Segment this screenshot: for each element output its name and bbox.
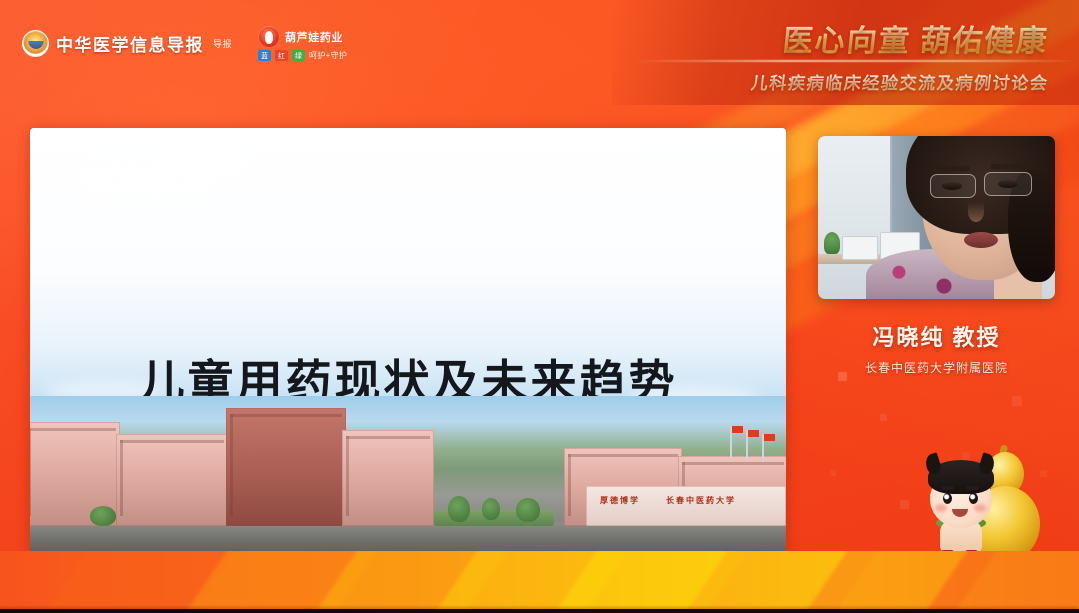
- circular-seal-icon: [22, 30, 49, 57]
- webinar-stage: 中华医学信息导报 导报 葫芦娃药业 蓝 红 绿 呵护+守护 医心向童 葫佑健康 …: [0, 0, 1079, 613]
- plant: [824, 232, 840, 254]
- brand-chip: 红: [275, 50, 288, 61]
- flag-pole: [730, 426, 732, 458]
- presentation-slide[interactable]: 儿童用药现状及未来趋势 长春中医药大学附属医院 儿童诊疗中心 长春中医药大学附属…: [30, 128, 786, 556]
- event-banner: 医心向童 葫佑健康 儿科疾病临床经验交流及病例讨论会: [751, 16, 1049, 94]
- bottom-decorative-band: [0, 551, 1079, 613]
- building: [226, 408, 346, 526]
- tree: [90, 506, 116, 526]
- sparkle-square: [1012, 396, 1022, 406]
- sponsor-cma-logo: 中华医学信息导报 导报: [22, 30, 232, 57]
- building: [342, 430, 434, 526]
- campus-photo: 厚德博学 长春中医药大学: [30, 396, 786, 556]
- mascot-eye: [943, 493, 952, 504]
- tree: [448, 496, 470, 522]
- mascot-brow: [941, 486, 954, 490]
- flag-pole: [746, 430, 748, 460]
- participant-mouth: [964, 232, 998, 248]
- tree: [482, 498, 500, 520]
- mascot-cheek: [974, 504, 986, 512]
- participant-brow: [990, 164, 1026, 169]
- participant-nose: [968, 202, 984, 222]
- mascot-eye: [969, 493, 978, 504]
- huluwa-wordmark: 葫芦娃药业: [285, 29, 343, 45]
- gate-caption-left: 厚德博学: [600, 495, 640, 506]
- participant-eye: [998, 180, 1018, 188]
- speaker-name: 冯晓纯 教授: [818, 320, 1055, 352]
- sparkle-square: [830, 470, 836, 476]
- cloud: [150, 150, 260, 176]
- flag-pole: [762, 434, 764, 462]
- brand-chip: 蓝: [258, 50, 271, 61]
- bottom-edge-line: [0, 609, 1079, 613]
- event-subtitle: 儿科疾病临床经验交流及病例讨论会: [750, 69, 1050, 94]
- tree: [516, 498, 540, 522]
- participant-eye: [942, 182, 962, 190]
- mascot-cheek: [935, 504, 947, 512]
- speaker-video-tile[interactable]: [818, 136, 1055, 299]
- shelf-box: [842, 236, 878, 260]
- mascot-brow: [966, 486, 979, 490]
- gate-wall: [586, 486, 786, 526]
- gourd-flame-icon: [258, 26, 280, 48]
- building: [116, 434, 228, 526]
- event-title: 医心向童 葫佑健康: [749, 16, 1051, 60]
- cma-wordmark: 中华医学信息导报: [56, 31, 204, 56]
- sparkle-square: [900, 500, 909, 509]
- sponsor-huluwa-logo: 葫芦娃药业 蓝 红 绿 呵护+守护: [258, 26, 347, 61]
- cma-suffix: 导报: [213, 37, 232, 50]
- speaker-info: 冯晓纯 教授 长春中医药大学附属医院: [818, 320, 1055, 376]
- participant-brow: [936, 166, 970, 171]
- sponsor-logos: 中华医学信息导报 导报 葫芦娃药业 蓝 红 绿 呵护+守护: [22, 26, 347, 61]
- brand-chip: 绿: [292, 50, 305, 61]
- gate-caption-right: 长春中医药大学: [666, 495, 736, 506]
- speaker-organization: 长春中医药大学附属医院: [818, 359, 1055, 376]
- sparkle-square: [880, 414, 887, 421]
- huluwa-tagline: 呵护+守护: [309, 50, 347, 61]
